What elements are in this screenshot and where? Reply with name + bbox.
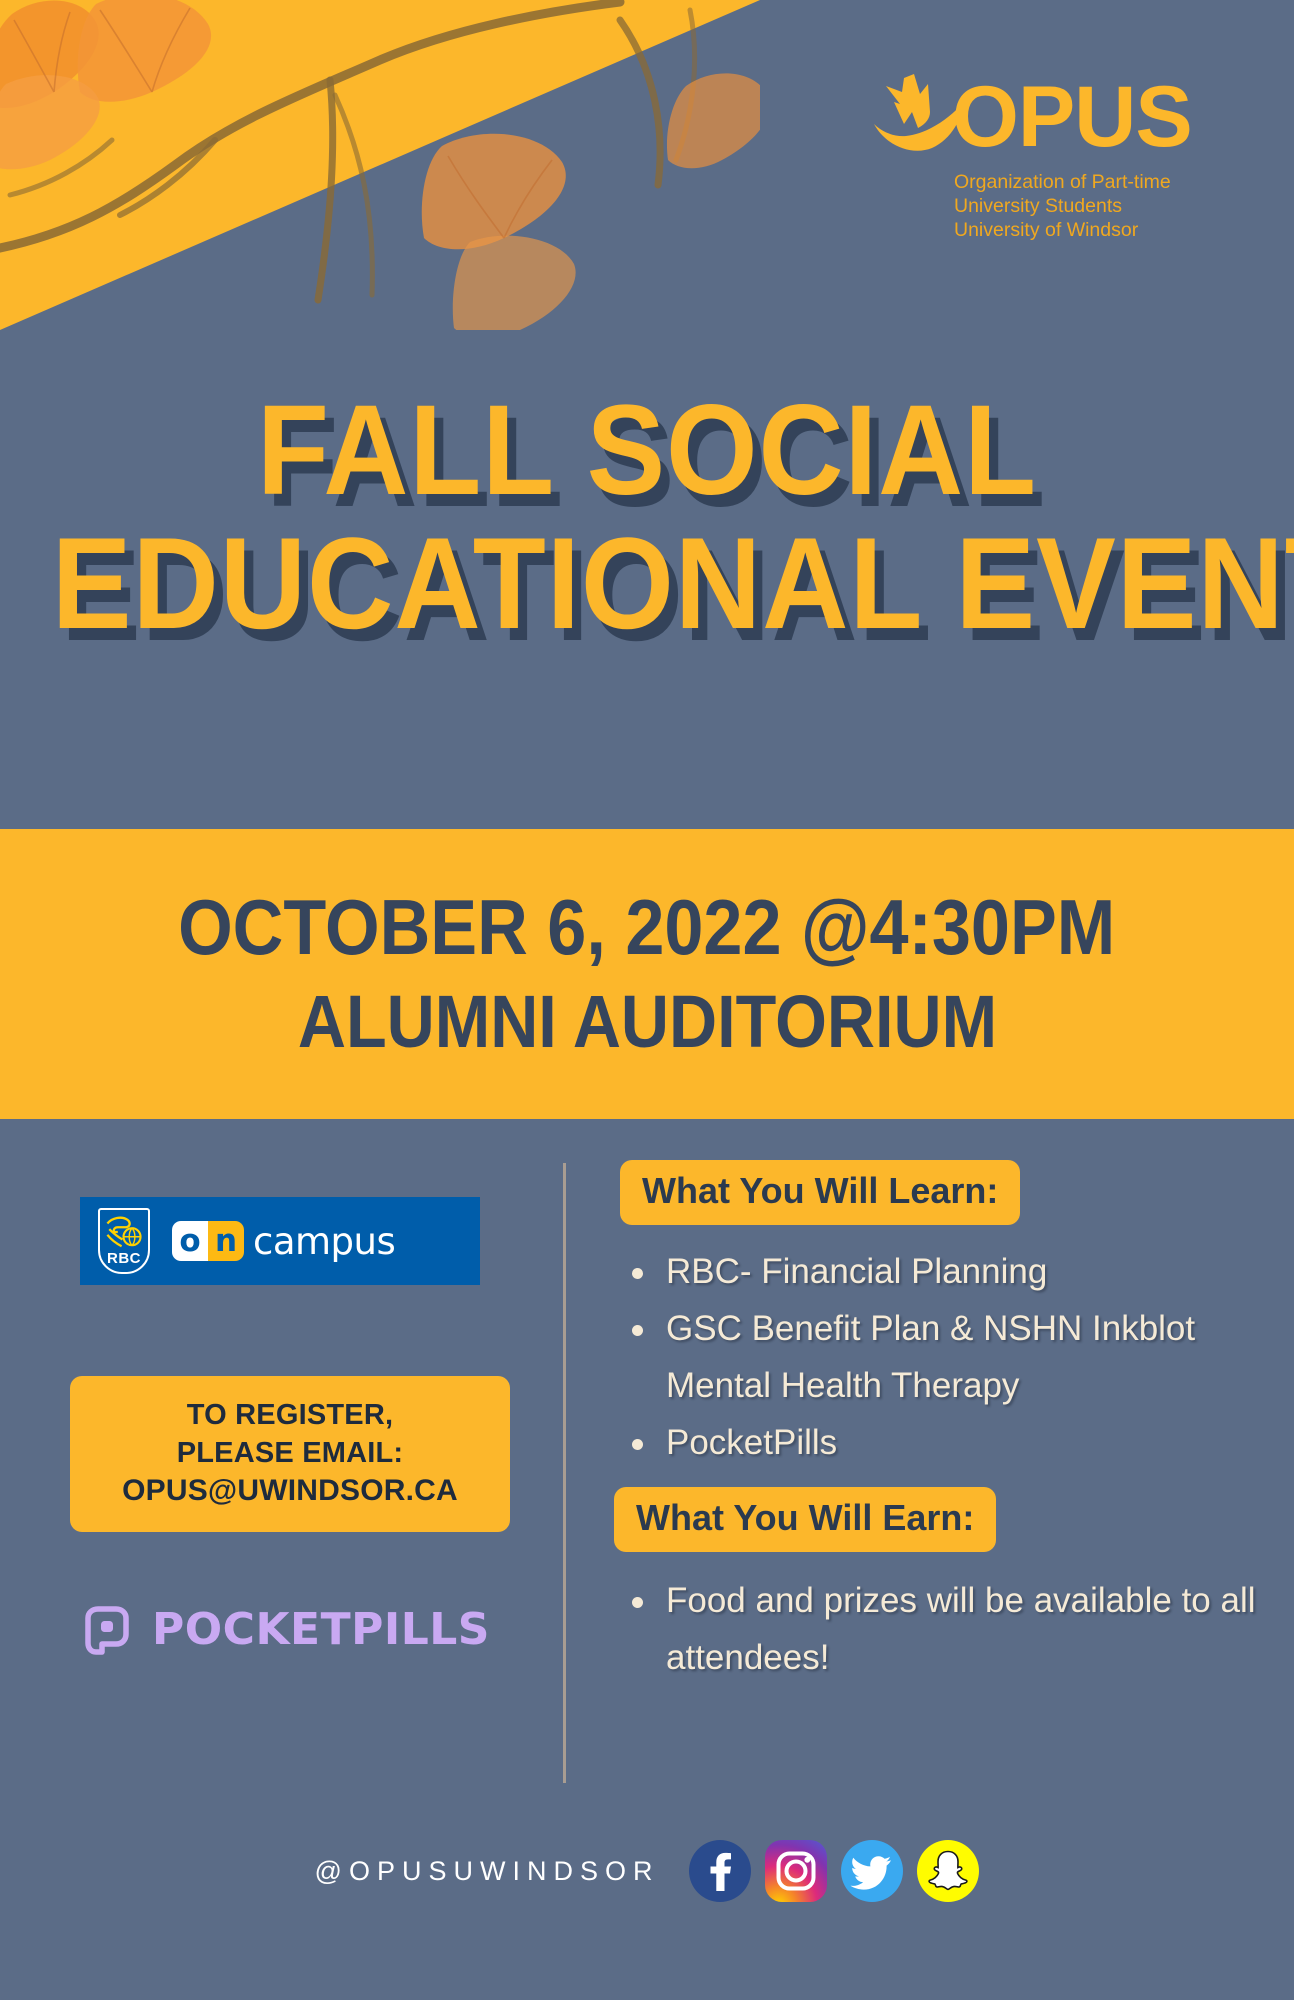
on-campus-o: o <box>172 1221 208 1261</box>
instagram-icon[interactable] <box>765 1840 827 1902</box>
event-venue: ALUMNI AUDITORIUM <box>297 978 996 1066</box>
on-campus-wordmark: o n campus <box>172 1221 395 1261</box>
rbc-shield-label: RBC <box>107 1250 141 1267</box>
list-item: Food and prizes will be available to all… <box>620 1572 1260 1686</box>
social-icons <box>689 1840 979 1902</box>
list-item: PocketPills <box>620 1414 1260 1471</box>
rbc-shield-icon: RBC <box>98 1208 150 1274</box>
rbc-lion-globe-icon <box>104 1214 143 1250</box>
opus-tagline: Organization of Part-time University Stu… <box>954 170 1171 242</box>
event-title: FALL SOCIAL EDUCATIONAL EVENT <box>0 385 1294 649</box>
yellow-corner-triangle <box>0 0 760 330</box>
learn-list: RBC- Financial Planning GSC Benefit Plan… <box>620 1243 1260 1471</box>
autumn-leaves-decoration <box>0 0 760 330</box>
column-divider <box>563 1163 566 1783</box>
register-email[interactable]: OPUS@UWINDSOR.CA <box>84 1472 496 1510</box>
poster-canvas: OPUS Organization of Part-time Universit… <box>0 0 1294 2000</box>
on-campus-n: n <box>208 1221 244 1261</box>
event-datetime: OCTOBER 6, 2022 @4:30PM <box>178 882 1115 972</box>
earn-list: Food and prizes will be available to all… <box>620 1572 1260 1686</box>
date-venue-banner: OCTOBER 6, 2022 @4:30PM ALUMNI AUDITORIU… <box>0 829 1294 1119</box>
title-line-2: EDUCATIONAL EVENT <box>52 517 1242 649</box>
title-line-1: FALL SOCIAL <box>52 385 1242 517</box>
earn-heading-wrap: What You Will Earn: <box>620 1487 1260 1552</box>
pocketpills-mark-icon <box>80 1604 132 1656</box>
on-campus-campus-word: campus <box>253 1223 395 1260</box>
pocketpills-wordmark: POCKETPILLS <box>152 1608 490 1652</box>
facebook-icon[interactable] <box>689 1840 751 1902</box>
learn-heading: What You Will Learn: <box>620 1160 1020 1225</box>
opus-wordmark: OPUS <box>952 74 1192 160</box>
learn-heading-wrap: What You Will Learn: <box>620 1160 1260 1225</box>
twitter-icon[interactable] <box>841 1840 903 1902</box>
ginkgo-branch-icon <box>0 0 760 330</box>
pocketpills-logo: POCKETPILLS <box>80 1604 490 1656</box>
register-callout: TO REGISTER, PLEASE EMAIL: OPUS@UWINDSOR… <box>70 1376 510 1532</box>
register-line-2: PLEASE EMAIL: <box>84 1434 496 1472</box>
list-item: GSC Benefit Plan & NSHN Inkblot Mental H… <box>620 1300 1260 1414</box>
register-line-1: TO REGISTER, <box>84 1396 496 1434</box>
social-handle: @OPUSUWINDSOR <box>315 1856 660 1887</box>
opus-logo: OPUS Organization of Part-time Universit… <box>856 72 1236 242</box>
earn-heading: What You Will Earn: <box>614 1487 996 1552</box>
footer-social-bar: @OPUSUWINDSOR <box>0 1840 1294 1902</box>
list-item: RBC- Financial Planning <box>620 1243 1260 1300</box>
rbc-on-campus-logo: RBC o n campus <box>80 1197 480 1285</box>
opus-leaf-icon <box>856 72 966 162</box>
snapchat-icon[interactable] <box>917 1840 979 1902</box>
learn-earn-column: What You Will Learn: RBC- Financial Plan… <box>620 1160 1260 1686</box>
